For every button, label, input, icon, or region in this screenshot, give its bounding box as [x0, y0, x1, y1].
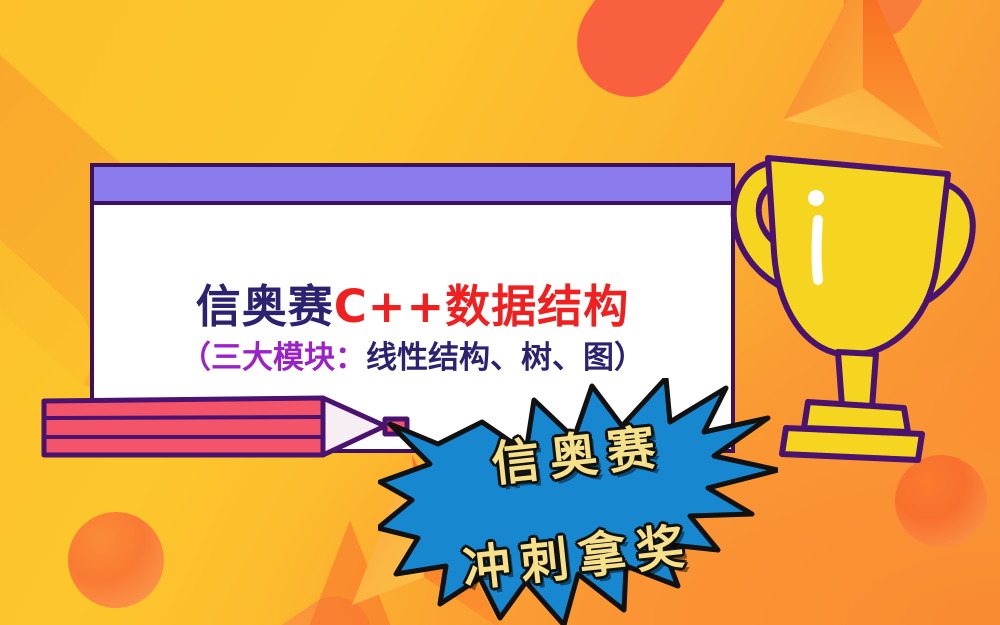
page-title: 信奥赛C++数据结构	[196, 284, 629, 329]
title-segment-navy: 信奥赛	[196, 280, 334, 333]
subtitle-segment-purple: （三大模块：	[180, 340, 366, 376]
status-badge: 信奥赛 冲刺拿奖	[378, 378, 778, 625]
circle-shape-bottom-left	[68, 512, 164, 608]
pencil-icon	[40, 393, 430, 463]
title-segment-red: C++数据结构	[334, 280, 629, 333]
page-subtitle: （三大模块：线性结构、树、图）	[180, 343, 645, 374]
poster-canvas: 信奥赛C++数据结构 （三大模块：线性结构、树、图）	[0, 0, 1000, 625]
subtitle-segment-navy: 线性结构、树、图）	[366, 340, 645, 376]
circle-shape-bottom-right	[895, 455, 987, 547]
card-header-bar	[94, 167, 731, 205]
